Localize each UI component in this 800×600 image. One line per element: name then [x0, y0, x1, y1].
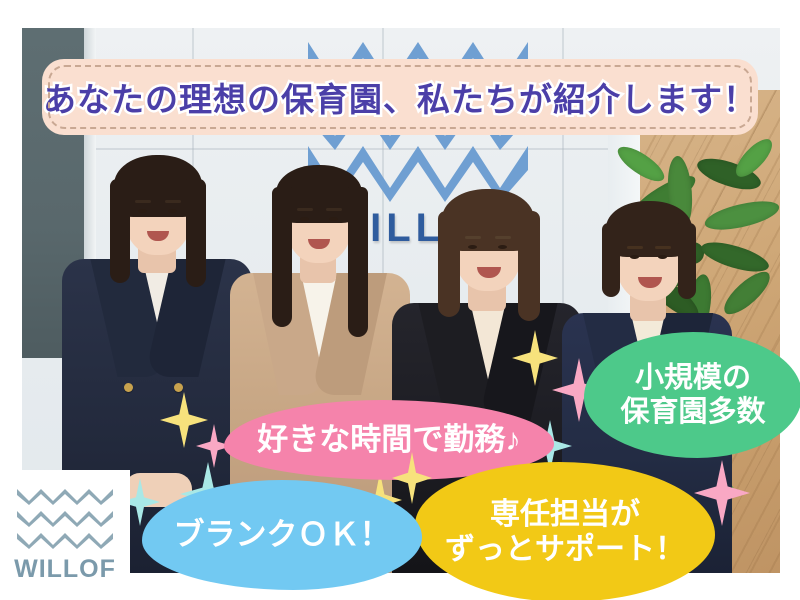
- ad-banner-root: WILLOF: [0, 0, 800, 600]
- bubble-yellow-line-1: 専任担当が: [445, 497, 685, 532]
- bubble-dedicated-support[interactable]: 専任担当が ずっとサポート！: [415, 462, 715, 600]
- logo-waves: [17, 487, 113, 549]
- headline-text: あなたの理想の保育園、私たちが紹介します！: [42, 59, 758, 135]
- zigzag-icon: [17, 531, 113, 549]
- bubble-small-nurseries[interactable]: 小規模の 保育園多数: [584, 332, 800, 458]
- logo-wordmark: WILLOF: [14, 555, 116, 584]
- headline-banner: あなたの理想の保育園、私たちが紹介します！: [42, 59, 758, 135]
- bubble-pink-line-1: 好きな時間で勤務♪: [257, 422, 521, 459]
- bubble-career-gap-ok[interactable]: ブランクＯＫ！: [142, 480, 422, 590]
- bubble-blue-line-1: ブランクＯＫ！: [174, 517, 391, 554]
- bubble-green-line-1: 小規模の: [620, 361, 765, 395]
- brand-logo: WILLOF: [0, 470, 130, 600]
- zigzag-icon: [17, 509, 113, 527]
- zigzag-icon: [17, 487, 113, 505]
- bubble-green-line-2: 保育園多数: [620, 395, 765, 429]
- bubble-yellow-line-2: ずっとサポート！: [445, 532, 685, 567]
